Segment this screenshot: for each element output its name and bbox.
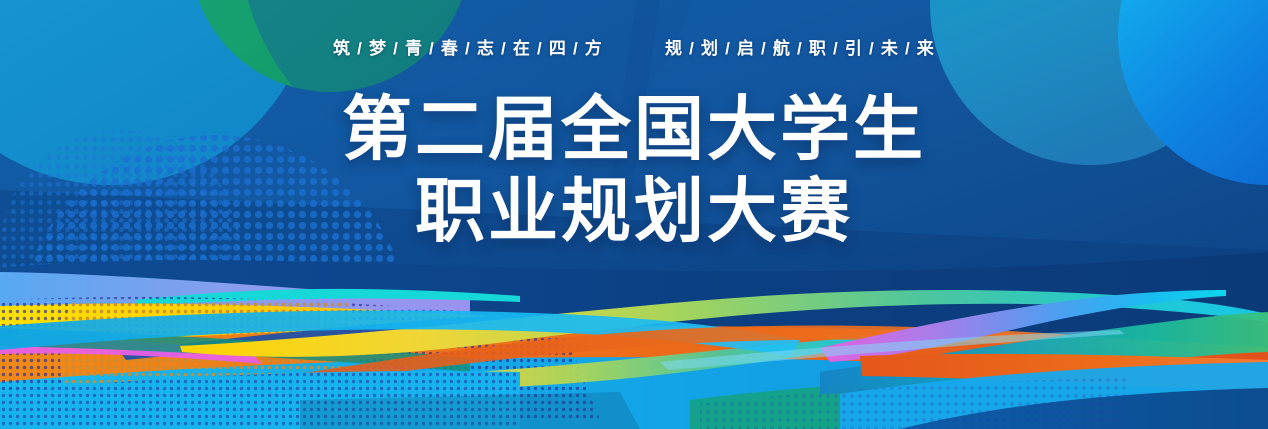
- wave-ribbons-layer: [0, 0, 1268, 429]
- competition-banner: 筑 / 梦 / 青 / 春 / 志 / 在 / 四 / 方 规 / 划 / 启 …: [0, 0, 1268, 429]
